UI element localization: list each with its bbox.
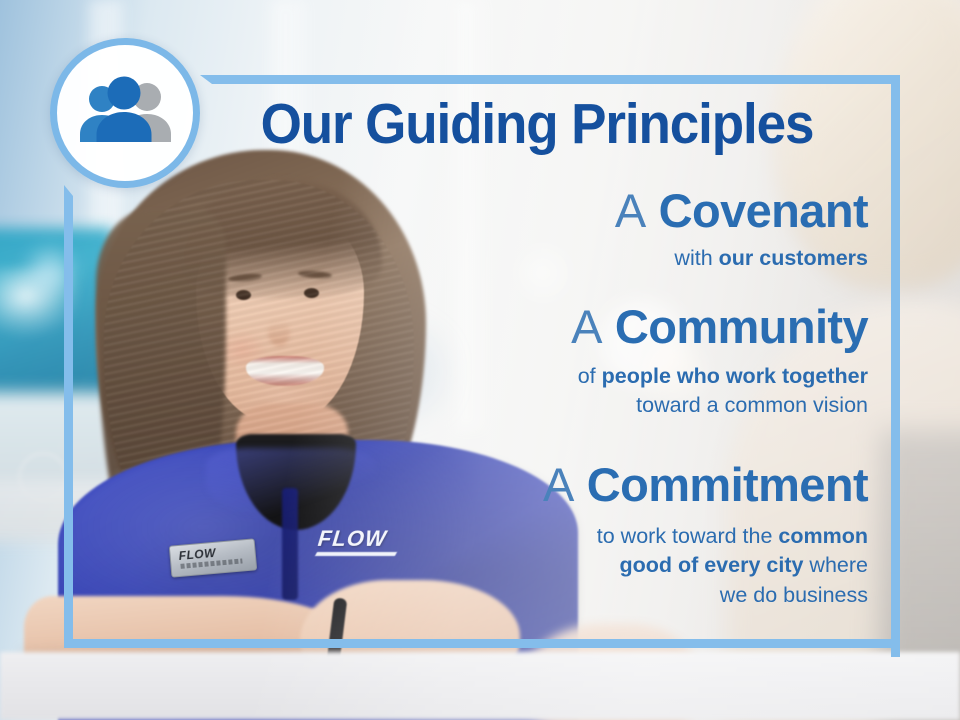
principle-heading: A Community — [571, 302, 868, 352]
principle-community: A Community of people who work togethert… — [571, 302, 868, 421]
principle-body-line: to work toward the common — [543, 522, 868, 552]
polo-placket — [282, 488, 298, 600]
principle-body-line: toward a common vision — [571, 391, 868, 421]
emphasis-text: people who work together — [602, 364, 868, 388]
principle-word: Community — [615, 300, 868, 353]
frame-bottom-border — [64, 639, 900, 648]
frame-right-border — [891, 75, 900, 657]
plain-text: where — [803, 553, 868, 577]
plain-text: toward a common vision — [636, 393, 868, 417]
emphasis-text: common — [778, 524, 868, 548]
flow-logo-swoosh — [315, 552, 397, 556]
principle-covenant: A Covenant with our customers — [615, 186, 868, 273]
flow-chest-logo: FLOW — [317, 526, 388, 552]
page-title: Our Guiding Principles — [235, 96, 840, 153]
principle-heading: A Commitment — [543, 460, 868, 510]
emphasis-text: our customers — [719, 246, 868, 270]
guiding-principles-poster: FLOW FLOW — [0, 0, 960, 720]
principle-article: A — [571, 300, 602, 353]
principle-body-line: good of every city where — [543, 551, 868, 581]
plain-text: to work toward the — [597, 524, 779, 548]
emphasis-text: good of every city — [619, 553, 803, 577]
principle-article: A — [543, 458, 574, 511]
plain-text: of — [578, 364, 602, 388]
principle-body: of people who work togethertoward a comm… — [571, 362, 868, 421]
frame-left-border — [64, 196, 73, 648]
principle-commitment: A Commitment to work toward the commongo… — [543, 460, 868, 611]
principle-word: Covenant — [659, 184, 868, 237]
principle-body: with our customers — [615, 244, 868, 274]
principle-body-line: of people who work together — [571, 362, 868, 392]
plain-text: we do business — [720, 583, 868, 607]
people-group-icon — [73, 76, 177, 150]
principle-heading: A Covenant — [615, 186, 868, 236]
desk-surface — [0, 652, 960, 720]
people-group-badge — [50, 38, 200, 188]
principle-body: to work toward the commongood of every c… — [543, 522, 868, 611]
frame-top-border — [212, 75, 900, 84]
principle-article: A — [615, 184, 646, 237]
principle-body-line: with our customers — [615, 244, 868, 274]
principle-word: Commitment — [587, 458, 868, 511]
plain-text: with — [674, 246, 718, 270]
principle-body-line: we do business — [543, 581, 868, 611]
